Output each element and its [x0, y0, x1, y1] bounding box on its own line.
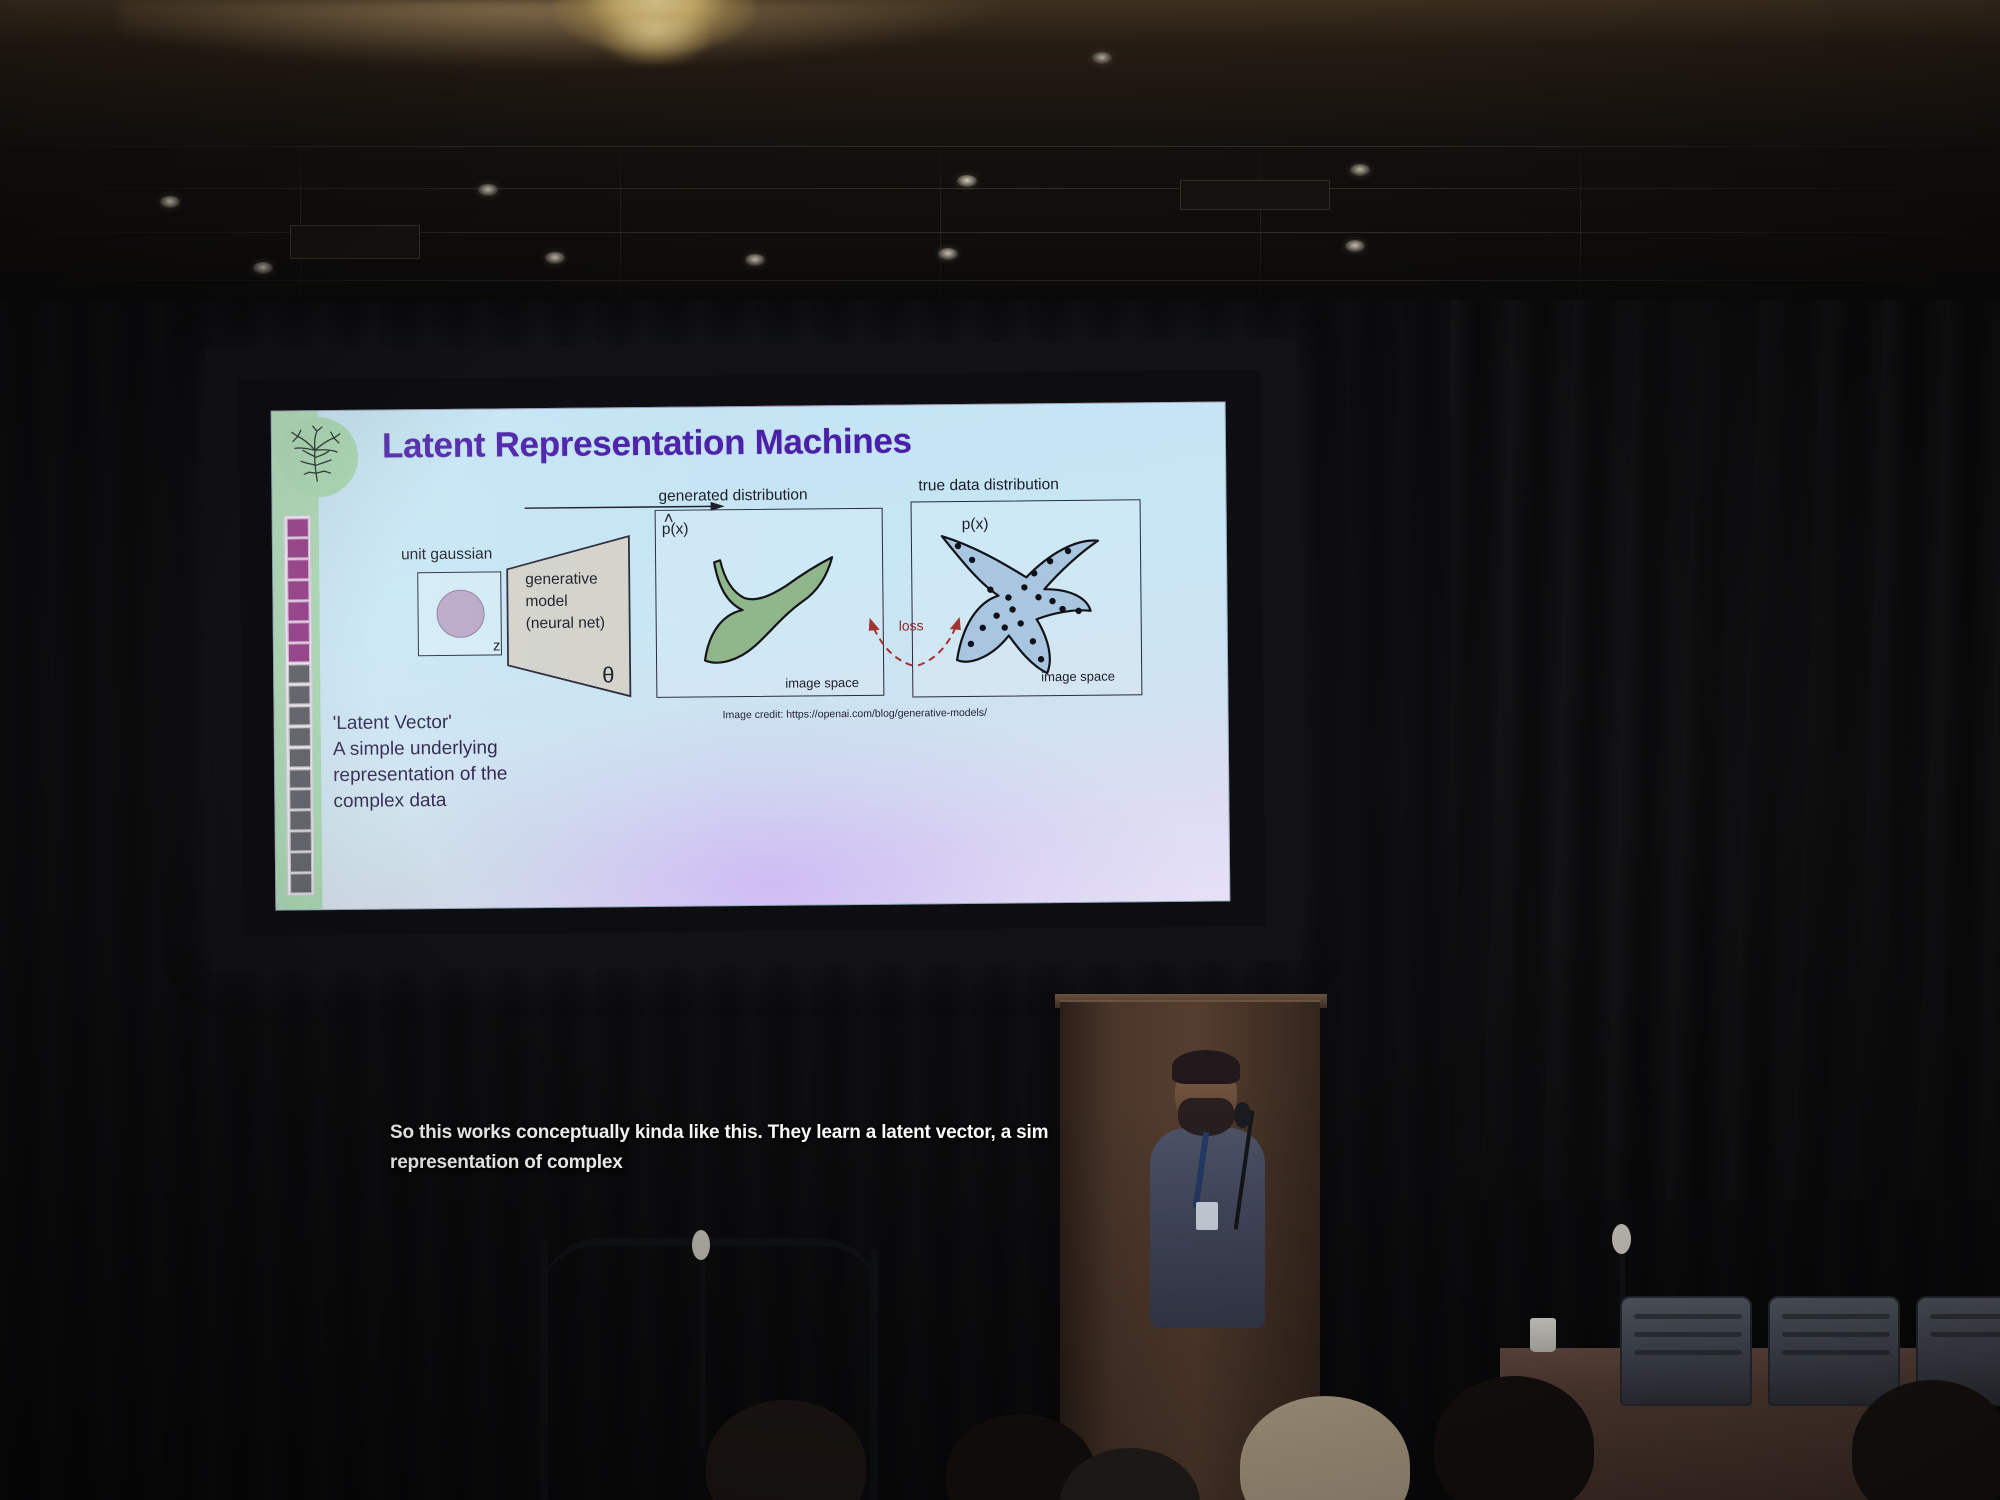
ceiling-vent [1180, 180, 1330, 210]
stage-curtain-right-folds [1450, 300, 2000, 1200]
microphone-icon [1612, 1224, 1631, 1254]
speaker-beard [1178, 1098, 1234, 1136]
ceiling-light-icon [1092, 52, 1112, 64]
slide-body-text: 'Latent Vector' A simple underlying repr… [333, 708, 664, 815]
body-line-2: A simple underlying [333, 734, 663, 763]
microphone-icon [1234, 1102, 1251, 1128]
conference-room-scene: Latent Representation Machines unit gaus… [0, 0, 2000, 1500]
body-line-1: 'Latent Vector' [333, 708, 663, 737]
image-space-label-left: image space [785, 675, 859, 691]
ceiling [0, 0, 2000, 330]
stage-railing-right [870, 1250, 878, 1500]
cup-icon [1530, 1318, 1556, 1352]
unit-gaussian-label: unit gaussian [401, 545, 493, 564]
body-line-4: complex data [333, 786, 663, 815]
stage-railing-curve [540, 1238, 880, 1298]
presentation-slide: Latent Representation Machines unit gaus… [271, 401, 1231, 910]
microphone-stand-left [700, 1248, 705, 1448]
unit-gaussian-box [417, 571, 502, 656]
chandelier-core [600, 18, 710, 64]
loss-arrows-icon [850, 603, 981, 674]
body-line-3: representation of the [333, 760, 663, 789]
chair [1620, 1296, 1752, 1406]
loss-label: loss [899, 617, 924, 633]
generative-model-label-line3: (neural net) [526, 614, 605, 633]
projection-screen: Latent Representation Machines unit gaus… [205, 339, 1301, 971]
true-data-distribution-label: true data distribution [918, 476, 1059, 495]
slide-title: Latent Representation Machines [382, 421, 912, 466]
neuron-icon [284, 423, 351, 490]
speaker-hair [1172, 1050, 1240, 1084]
ceiling-light-icon [160, 196, 180, 208]
slide-diagram: unit gaussian z generative model (neural… [328, 481, 1210, 749]
stage-railing-left [540, 1240, 548, 1500]
generative-model-label-line2: model [525, 593, 567, 611]
generative-model-label-line1: generative [525, 570, 598, 589]
latent-vector-bar-icon [284, 515, 315, 895]
microphone-icon [692, 1230, 710, 1260]
generated-distribution-label: generated distribution [658, 486, 807, 505]
ceiling-light-icon [957, 175, 977, 187]
projection-screen-surface: Latent Representation Machines unit gaus… [238, 370, 1265, 936]
ceiling-light-icon [478, 184, 498, 196]
image-credit-label: Image credit: https://openai.com/blog/ge… [723, 707, 988, 722]
theta-label: θ [602, 662, 614, 688]
caption-line-1-part-1: So this works conceptually kinda like th… [390, 1122, 1048, 1143]
z-label: z [493, 637, 501, 654]
image-space-label-right: image space [1041, 669, 1115, 685]
speaker-badge [1196, 1202, 1218, 1230]
ceiling-light-icon [1350, 164, 1370, 176]
gaussian-circle-icon [436, 590, 484, 638]
chair [1768, 1296, 1900, 1406]
